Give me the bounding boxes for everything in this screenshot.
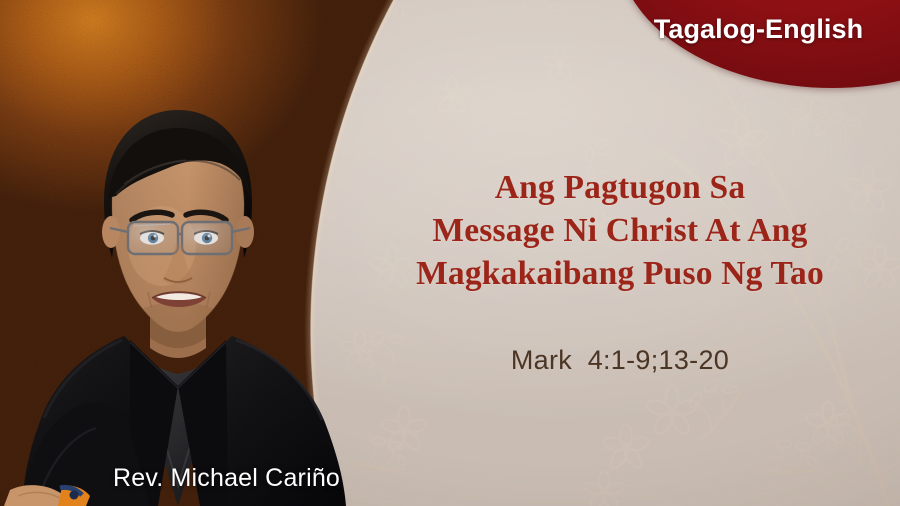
sermon-title: Ang Pagtugon Sa Message Ni Christ At Ang… <box>370 166 870 295</box>
title-line-2: Message Ni Christ At Ang <box>370 209 870 252</box>
title-line-1: Ang Pagtugon Sa <box>370 166 870 209</box>
title-line-3: Magkakaibang Puso Ng Tao <box>370 252 870 295</box>
sermon-title-slide: Tagalog-English <box>0 0 900 506</box>
speaker-name: Rev. Michael Cariño <box>113 464 340 493</box>
panel-grain-texture <box>0 0 420 506</box>
language-badge-label: Tagalog-English <box>617 6 900 52</box>
arc-divider <box>0 0 420 506</box>
scripture-reference: Mark 4:1-9;13-20 <box>370 345 870 376</box>
